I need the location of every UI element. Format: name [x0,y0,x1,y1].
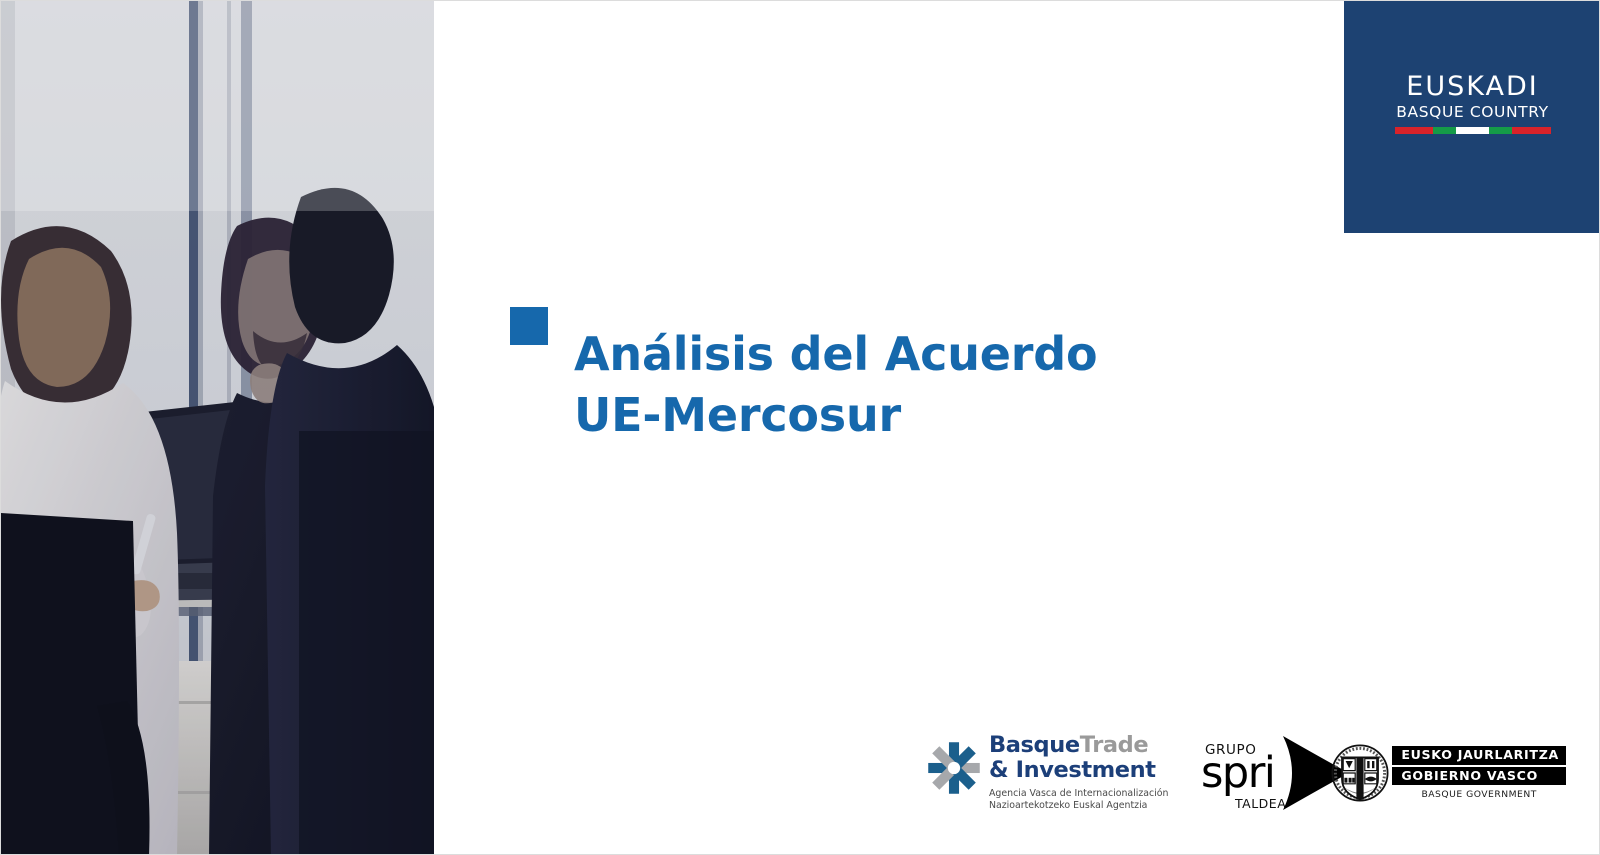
basque-country-tagline: BASQUE COUNTRY [1373,105,1573,121]
basque-trade-text: BasqueTrade & Investment Agencia Vasca d… [989,734,1168,812]
basque-word: Basque [989,732,1080,758]
coat-of-arms-icon [1330,743,1390,803]
gov-line-eu: EUSKO JAURLARITZA [1392,746,1566,764]
flag-stripe-white [1456,127,1489,134]
meeting-photo-illustration [1,1,434,855]
euskadi-logo: EUSKADI BASQUE COUNTRY [1373,73,1573,134]
basque-trade-line-2: & Investment [989,758,1168,783]
euskadi-brand-block: EUSKADI BASQUE COUNTRY [1344,1,1600,233]
title-line-1: Análisis del Acuerdo [574,324,1097,385]
basque-trade-investment-logo: BasqueTrade & Investment Agencia Vasca d… [926,734,1146,812]
trade-word: Trade [1080,732,1149,758]
euskadi-wordmark: EUSKADI [1373,73,1573,100]
government-text: EUSKO JAURLARITZA GOBIERNO VASCO BASQUE … [1392,746,1566,800]
title-line-2: UE-Mercosur [574,385,1097,446]
cover-photo [1,1,434,855]
basque-flag-bar [1395,127,1551,134]
flag-stripe-green-right [1489,127,1512,134]
gov-line-es: GOBIERNO VASCO [1392,767,1566,785]
flag-stripe-red-left [1395,127,1433,134]
square-bullet-icon [510,307,548,345]
grupo-spri-logo: GRUPO spri TALDEA [1193,734,1282,812]
flag-stripe-red-right [1512,127,1550,134]
slide-title-block: Análisis del Acuerdo UE-Mercosur [510,293,1300,477]
basque-government-logo: EUSKO JAURLARITZA GOBIERNO VASCO BASQUE … [1330,740,1566,806]
flag-stripe-green-left [1433,127,1456,134]
footer-logo-strip: BasqueTrade & Investment Agencia Vasca d… [926,727,1566,819]
basque-trade-sub-es: Agencia Vasca de Internacionalización [989,788,1168,800]
presentation-slide: EUSKADI BASQUE COUNTRY Análisis del Acue… [0,0,1600,855]
gov-line-en: BASQUE GOVERNMENT [1392,789,1566,800]
basque-trade-sub-eu: Nazioartekotzeko Euskal Agentzia [989,800,1168,812]
page-title: Análisis del Acuerdo UE-Mercosur [574,324,1097,446]
asterisk-icon [926,740,982,796]
basque-trade-line-1: BasqueTrade [989,734,1168,757]
spri-wordmark: spri [1201,752,1274,795]
